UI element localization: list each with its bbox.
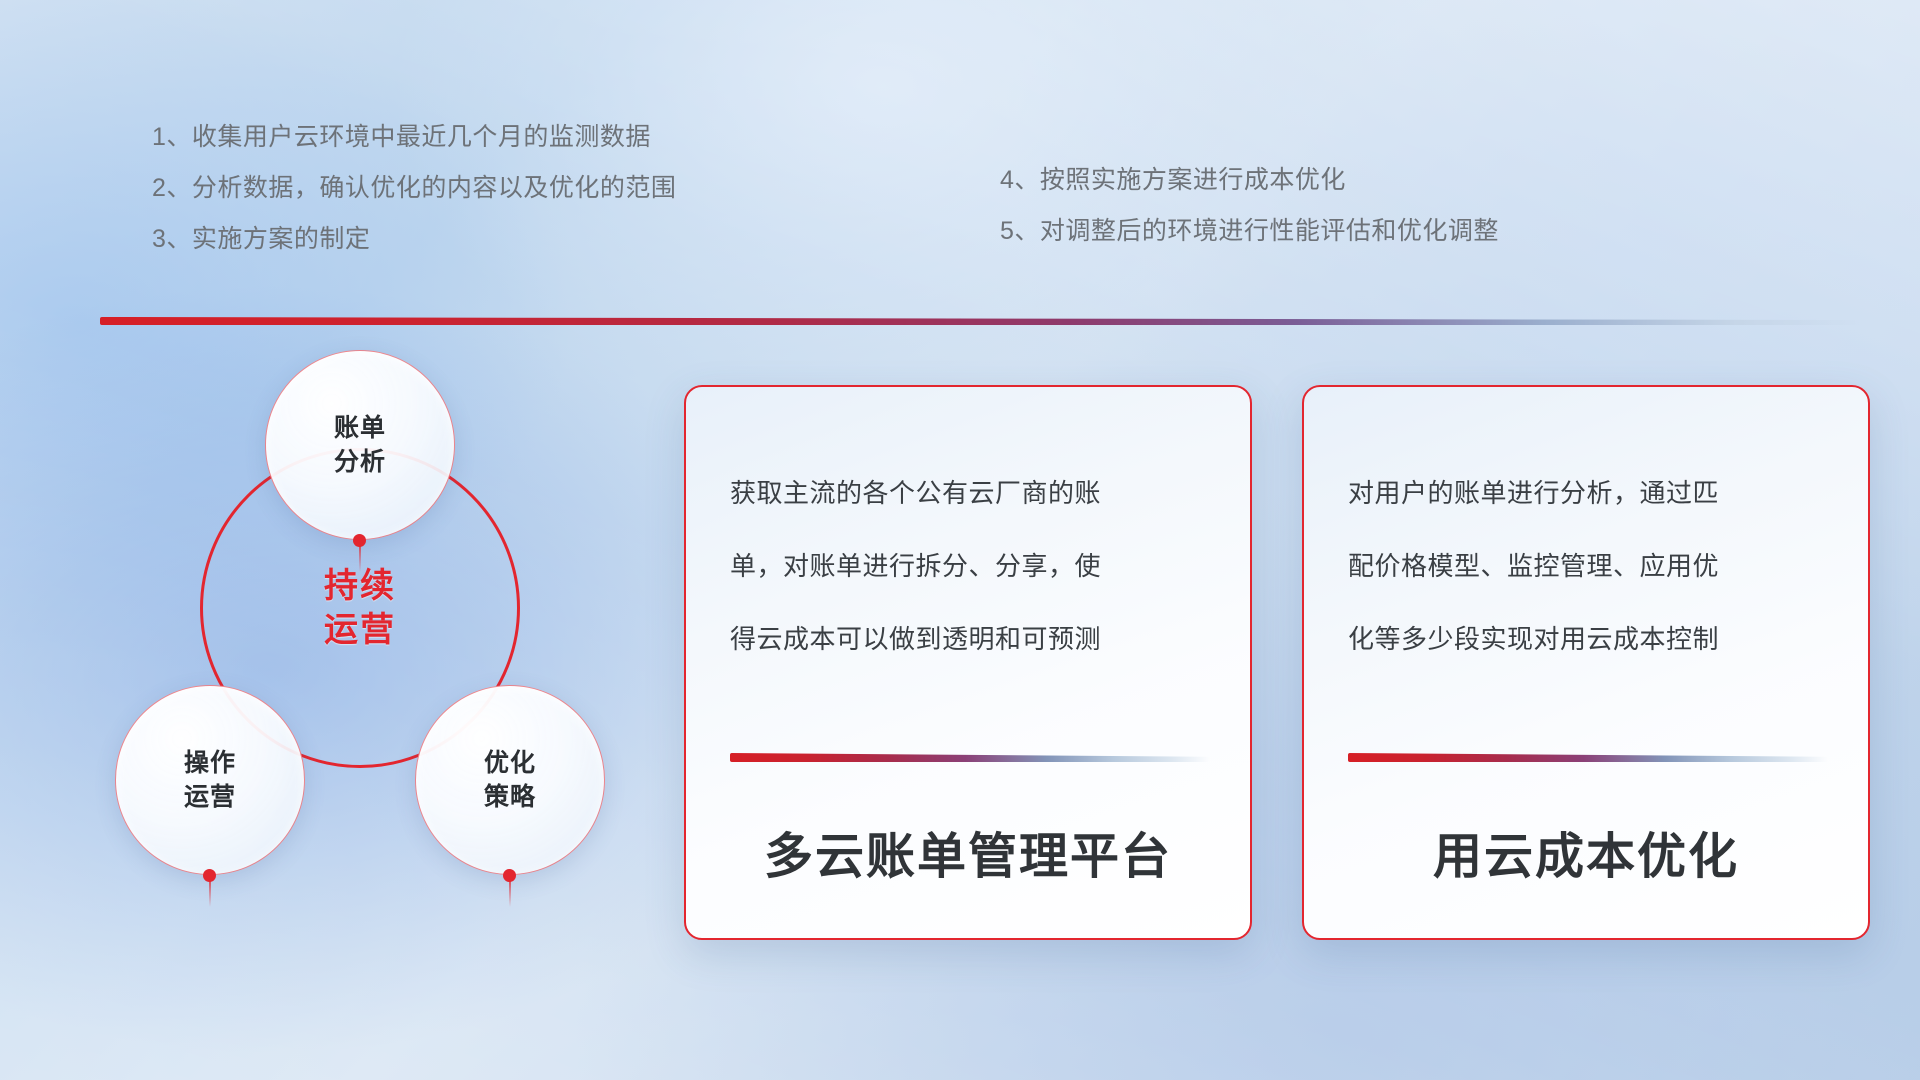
card-title: 用云成本优化	[1304, 817, 1868, 888]
card-multi-cloud-billing-platform[interactable]: 获取主流的各个公有云厂商的账 单，对账单进行拆分、分享，使 得云成本可以做到透明…	[684, 385, 1252, 940]
slide-canvas: 1、收集用户云环境中最近几个月的监测数据 2、分析数据，确认优化的内容以及优化的…	[0, 0, 1920, 1080]
bullet-item-3: 3、实施方案的制定	[152, 214, 676, 265]
venn-node-optimization-policy[interactable]: 优化 策略	[415, 685, 605, 875]
card-accent-rule	[730, 753, 1210, 762]
venn-node-label-line1: 账单	[334, 411, 386, 445]
card-body-text: 获取主流的各个公有云厂商的账 单，对账单进行拆分、分享，使 得云成本可以做到透明…	[686, 387, 1250, 676]
bullet-item-5: 5、对调整后的环境进行性能评估和优化调整	[1000, 206, 1499, 257]
venn-node-bill-analysis[interactable]: 账单 分析	[265, 350, 455, 540]
venn-connector-right-tail	[509, 881, 511, 907]
venn-node-label-line2: 运营	[184, 780, 236, 814]
card-body-line-3: 得云成本可以做到透明和可预测	[730, 603, 1206, 676]
venn-node-label-line1: 优化	[484, 746, 536, 780]
venn-anchor-dot-left	[203, 869, 216, 882]
section-divider-rule	[100, 317, 1860, 325]
card-body-line-3: 化等多少段实现对用云成本控制	[1348, 603, 1824, 676]
venn-anchor-dot-right	[503, 869, 516, 882]
card-body-line-2: 配价格模型、监控管理、应用优	[1348, 530, 1824, 603]
venn-node-label-line2: 策略	[484, 780, 536, 814]
venn-connector-left-tail	[209, 881, 211, 907]
card-title: 多云账单管理平台	[686, 817, 1250, 888]
venn-connector-top-tail	[359, 546, 361, 572]
card-body-line-2: 单，对账单进行拆分、分享，使	[730, 530, 1206, 603]
venn-node-label-line2: 分析	[334, 445, 386, 479]
card-body-line-1: 对用户的账单进行分析，通过匹	[1348, 457, 1824, 530]
venn-node-operation-ops[interactable]: 操作 运营	[115, 685, 305, 875]
venn-diagram: 持续 运营 账单 分析 操作 运营 优化 策略	[90, 340, 650, 960]
venn-node-label-line1: 操作	[184, 746, 236, 780]
bullet-item-2: 2、分析数据，确认优化的内容以及优化的范围	[152, 163, 676, 214]
card-cloud-cost-optimization[interactable]: 对用户的账单进行分析，通过匹 配价格模型、监控管理、应用优 化等多少段实现对用云…	[1302, 385, 1870, 940]
bullet-item-1: 1、收集用户云环境中最近几个月的监测数据	[152, 112, 676, 163]
bullet-list-right: 4、按照实施方案进行成本优化 5、对调整后的环境进行性能评估和优化调整	[1000, 155, 1499, 257]
card-accent-rule	[1348, 753, 1828, 762]
bullet-list-left: 1、收集用户云环境中最近几个月的监测数据 2、分析数据，确认优化的内容以及优化的…	[152, 112, 676, 265]
card-body-text: 对用户的账单进行分析，通过匹 配价格模型、监控管理、应用优 化等多少段实现对用云…	[1304, 387, 1868, 676]
card-body-line-1: 获取主流的各个公有云厂商的账	[730, 457, 1206, 530]
venn-anchor-dot-top	[353, 534, 366, 547]
venn-center-label-line2: 运营	[324, 608, 396, 652]
bullet-item-4: 4、按照实施方案进行成本优化	[1000, 155, 1499, 206]
